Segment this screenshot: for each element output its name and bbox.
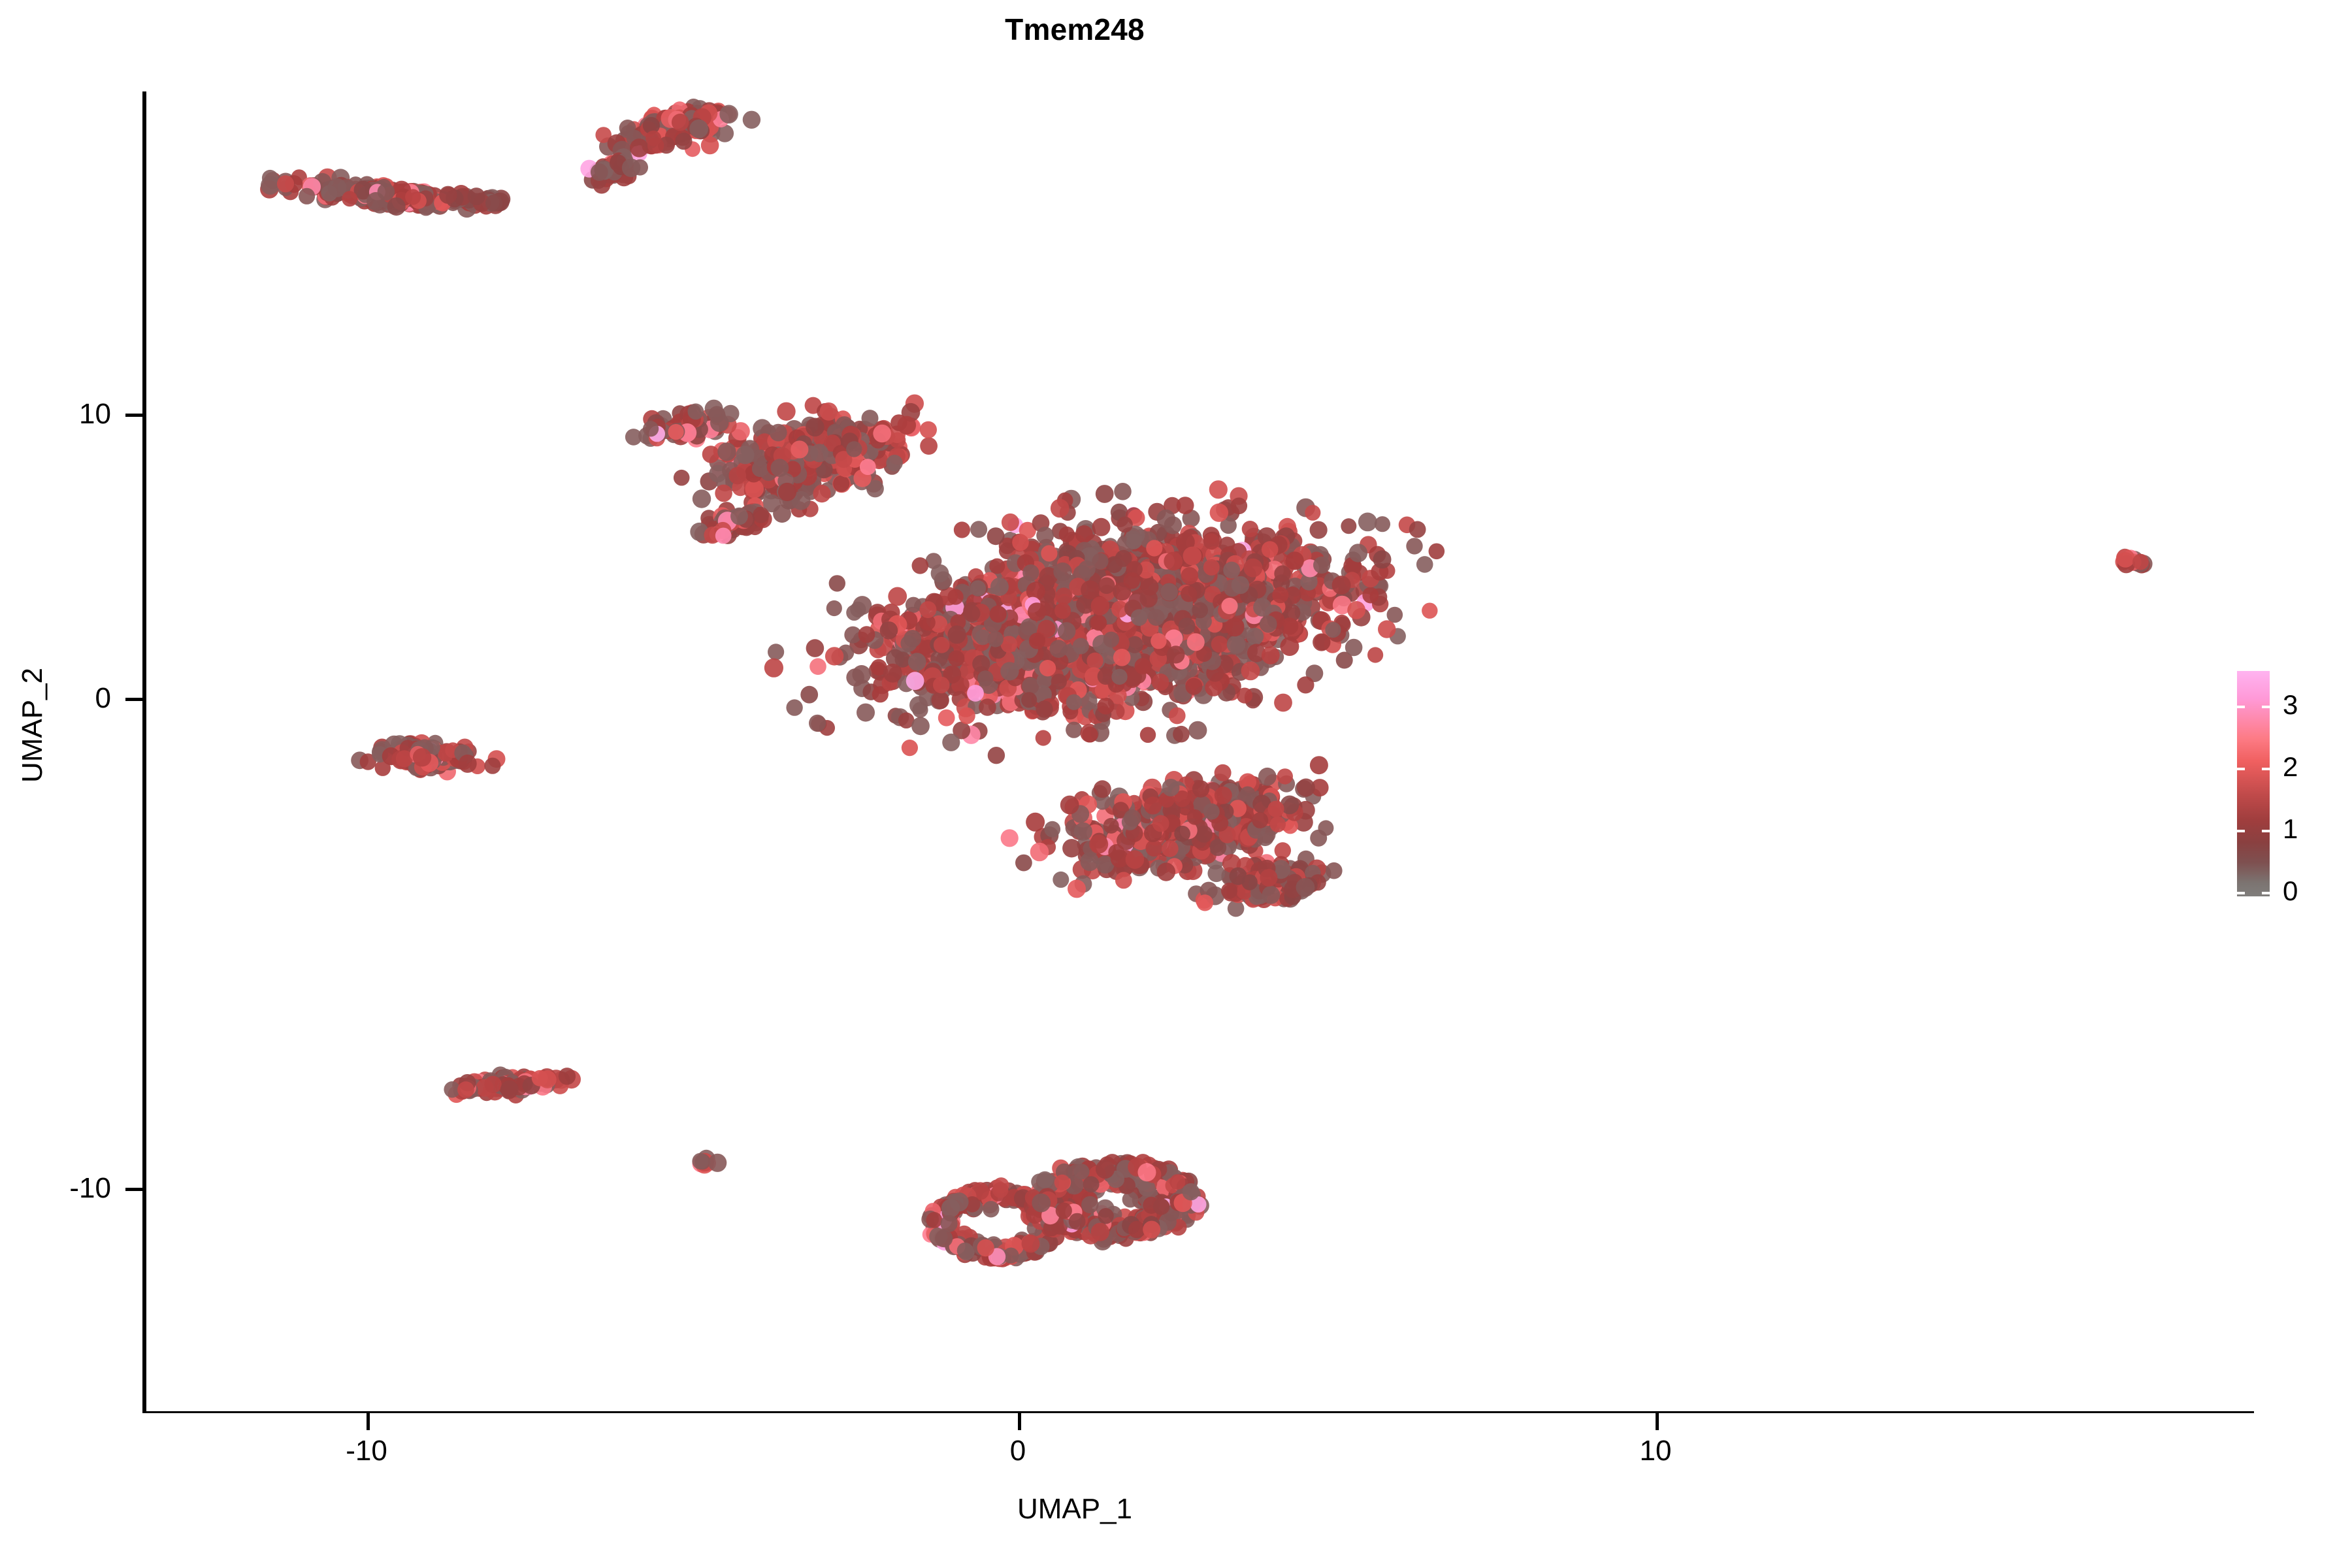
colorbar-gradient [2237, 671, 2270, 896]
figure-root: Tmem248 10 0 -10 -10 0 10 UMAP_1 UMAP_2 … [0, 0, 2352, 1568]
colorbar-tick-3-left [2237, 706, 2245, 708]
x-tick-mark-0 [1018, 1413, 1021, 1430]
colorbar-label-3: 3 [2283, 691, 2298, 719]
colorbar-legend: 3 2 1 0 [2237, 666, 2342, 902]
x-tick-label-0: 0 [953, 1435, 1083, 1467]
y-tick-label-minus10: -10 [0, 1172, 111, 1205]
y-tick-label-10: 10 [0, 398, 111, 431]
colorbar-label-2: 2 [2283, 753, 2298, 781]
colorbar-tick-3-right [2262, 706, 2270, 708]
x-tick-mark-10 [1656, 1413, 1659, 1430]
x-tick-mark-minus10 [367, 1413, 370, 1430]
x-tick-label-minus10: -10 [301, 1435, 432, 1467]
x-axis-title: UMAP_1 [0, 1493, 2149, 1526]
colorbar-label-0: 0 [2283, 877, 2298, 905]
colorbar-tick-0-left [2237, 892, 2245, 894]
y-tick-mark-10 [125, 414, 143, 417]
x-tick-label-10: 10 [1590, 1435, 1721, 1467]
colorbar-tick-2-left [2237, 768, 2245, 770]
page-title: Tmem248 [0, 12, 2149, 47]
colorbar-tick-2-right [2262, 768, 2270, 770]
colorbar-tick-1-left [2237, 830, 2245, 832]
y-axis-title: UMAP_2 [16, 595, 49, 856]
colorbar-label-1: 1 [2283, 815, 2298, 843]
colorbar-tick-1-right [2262, 830, 2270, 832]
colorbar-tick-0-right [2262, 892, 2270, 894]
plot-panel [146, 91, 2254, 1411]
y-tick-mark-0 [125, 698, 143, 701]
y-tick-mark-minus10 [125, 1188, 143, 1191]
